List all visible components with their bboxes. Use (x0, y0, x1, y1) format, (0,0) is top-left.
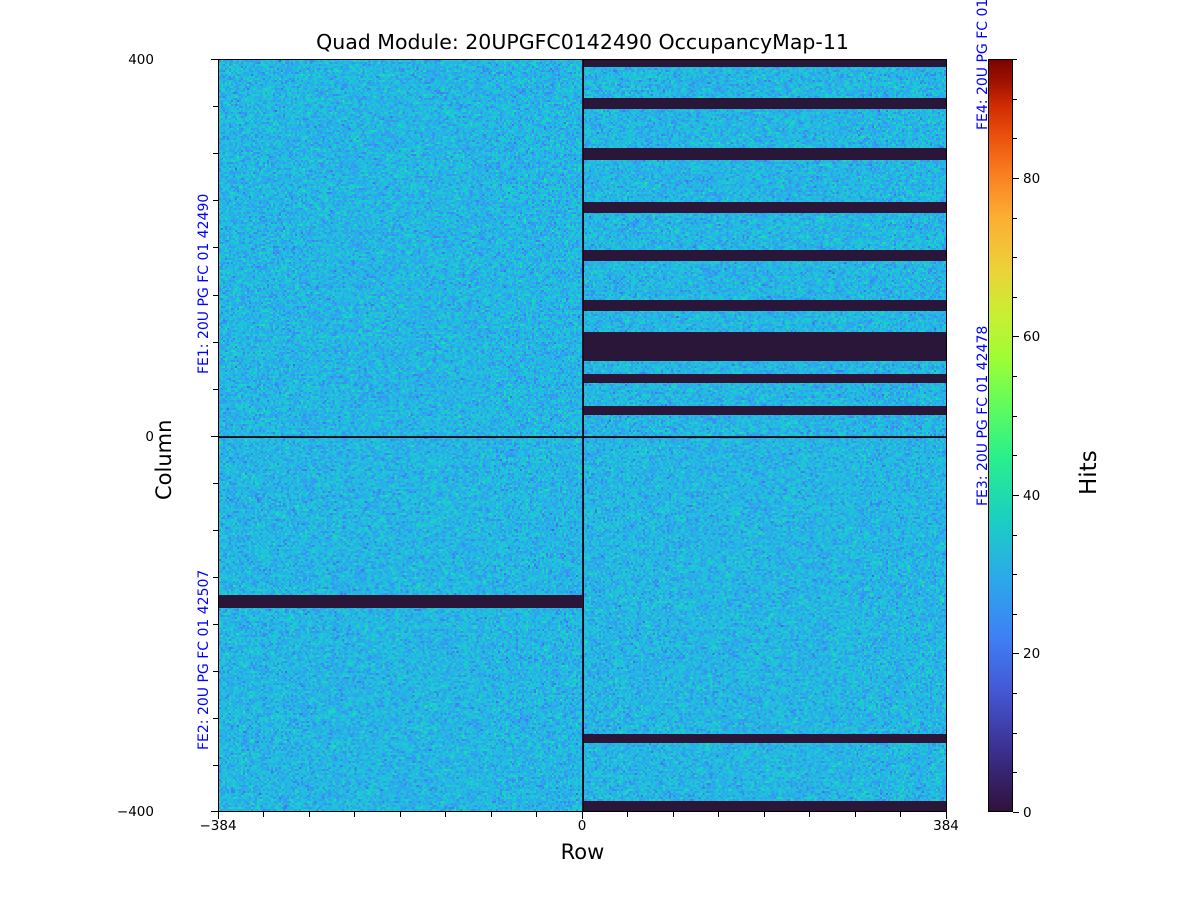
colorbar-tick (1013, 178, 1019, 179)
colorbar-tick (1013, 495, 1019, 496)
xtick-minor (354, 812, 355, 817)
ytick-major (211, 811, 218, 812)
xtick-minor (673, 812, 674, 817)
fe1-label: FE1: 20U PG FC 01 42490 (196, 194, 212, 374)
dead-band (219, 595, 582, 608)
x-axis-label: Row (0, 840, 1165, 864)
ytick-label: 400 (128, 52, 154, 68)
colorbar-minor-tick (1013, 455, 1017, 456)
axis-center-hline (219, 437, 947, 438)
dead-band (583, 406, 947, 415)
colorbar-tick-label: 0 (1023, 805, 1032, 821)
xtick-minor (491, 812, 492, 817)
colorbar-minor-tick (1013, 138, 1017, 139)
dead-band (583, 250, 947, 261)
ytick-minor (213, 200, 218, 201)
colorbar-minor-tick (1013, 574, 1017, 575)
xtick-minor (627, 812, 628, 817)
colorbar-tick-label: 80 (1023, 171, 1040, 187)
dead-band (583, 60, 947, 67)
colorbar-minor-tick (1013, 772, 1017, 773)
ytick-minor (213, 483, 218, 484)
ytick-minor (213, 342, 218, 343)
dead-band (583, 734, 947, 743)
ytick-major (211, 436, 218, 437)
colorbar-tick-label: 20 (1023, 646, 1040, 662)
quadrant-fe4 (583, 60, 947, 436)
colorbar-minor-tick (1013, 59, 1017, 60)
xtick-minor (855, 812, 856, 817)
quadrant-fe1 (219, 60, 582, 436)
ytick-minor (213, 106, 218, 107)
colorbar-minor-tick (1013, 614, 1017, 615)
xtick-minor (900, 812, 901, 817)
colorbar-tick (1013, 336, 1019, 337)
ytick-minor (213, 577, 218, 578)
dead-band (583, 332, 947, 354)
ytick-minor (213, 530, 218, 531)
dead-band (583, 300, 947, 311)
fe2-label: FE2: 20U PG FC 01 42507 (196, 570, 212, 750)
ytick-minor (213, 247, 218, 248)
colorbar-minor-tick (1013, 297, 1017, 298)
colorbar-minor-tick (1013, 99, 1017, 100)
colorbar-minor-tick (1013, 257, 1017, 258)
xtick-minor (445, 812, 446, 817)
fe2-noise-canvas (219, 437, 582, 812)
dead-band (583, 202, 947, 213)
xtick-minor (263, 812, 264, 817)
ytick-minor (213, 389, 218, 390)
ytick-minor (213, 718, 218, 719)
ytick-major (211, 59, 218, 60)
ytick-minor (213, 295, 218, 296)
ytick-minor (213, 624, 218, 625)
ytick-minor (213, 671, 218, 672)
colorbar-minor-tick (1013, 733, 1017, 734)
xtick-minor (309, 812, 310, 817)
dead-band (583, 98, 947, 109)
xtick-label: −384 (178, 818, 258, 834)
xtick-label: 0 (542, 818, 622, 834)
xtick-minor (400, 812, 401, 817)
fe3-noise-canvas (583, 437, 947, 812)
colorbar-minor-tick (1013, 693, 1017, 694)
xtick-minor (809, 812, 810, 817)
heatmap-axes[interactable] (218, 59, 947, 812)
colorbar-minor-tick (1013, 535, 1017, 536)
colorbar-minor-tick (1013, 376, 1017, 377)
colorbar-tick-label: 40 (1023, 488, 1040, 504)
ytick-label: −400 (117, 804, 154, 820)
y-axis-label: Column (152, 420, 176, 500)
figure-canvas: Quad Module: 20UPGFC0142490 OccupancyMap… (0, 0, 1200, 900)
fe1-noise-canvas (219, 60, 582, 436)
colorbar-tick-label: 60 (1023, 329, 1040, 345)
colorbar-title: Hits (1076, 450, 1102, 495)
ytick-minor (213, 765, 218, 766)
xtick-minor (764, 812, 765, 817)
colorbar-minor-tick (1013, 416, 1017, 417)
colorbar[interactable] (988, 59, 1013, 812)
colorbar-minor-tick (1013, 218, 1017, 219)
dead-band (583, 148, 947, 160)
quadrant-fe3 (583, 437, 947, 812)
ytick-minor (213, 153, 218, 154)
colorbar-tick (1013, 653, 1019, 654)
xtick-minor (718, 812, 719, 817)
quadrant-fe2 (219, 437, 582, 812)
colorbar-tick (1013, 812, 1019, 813)
dead-band (583, 801, 947, 812)
xtick-minor (536, 812, 537, 817)
xtick-label: 384 (906, 818, 986, 834)
dead-band (583, 374, 947, 383)
